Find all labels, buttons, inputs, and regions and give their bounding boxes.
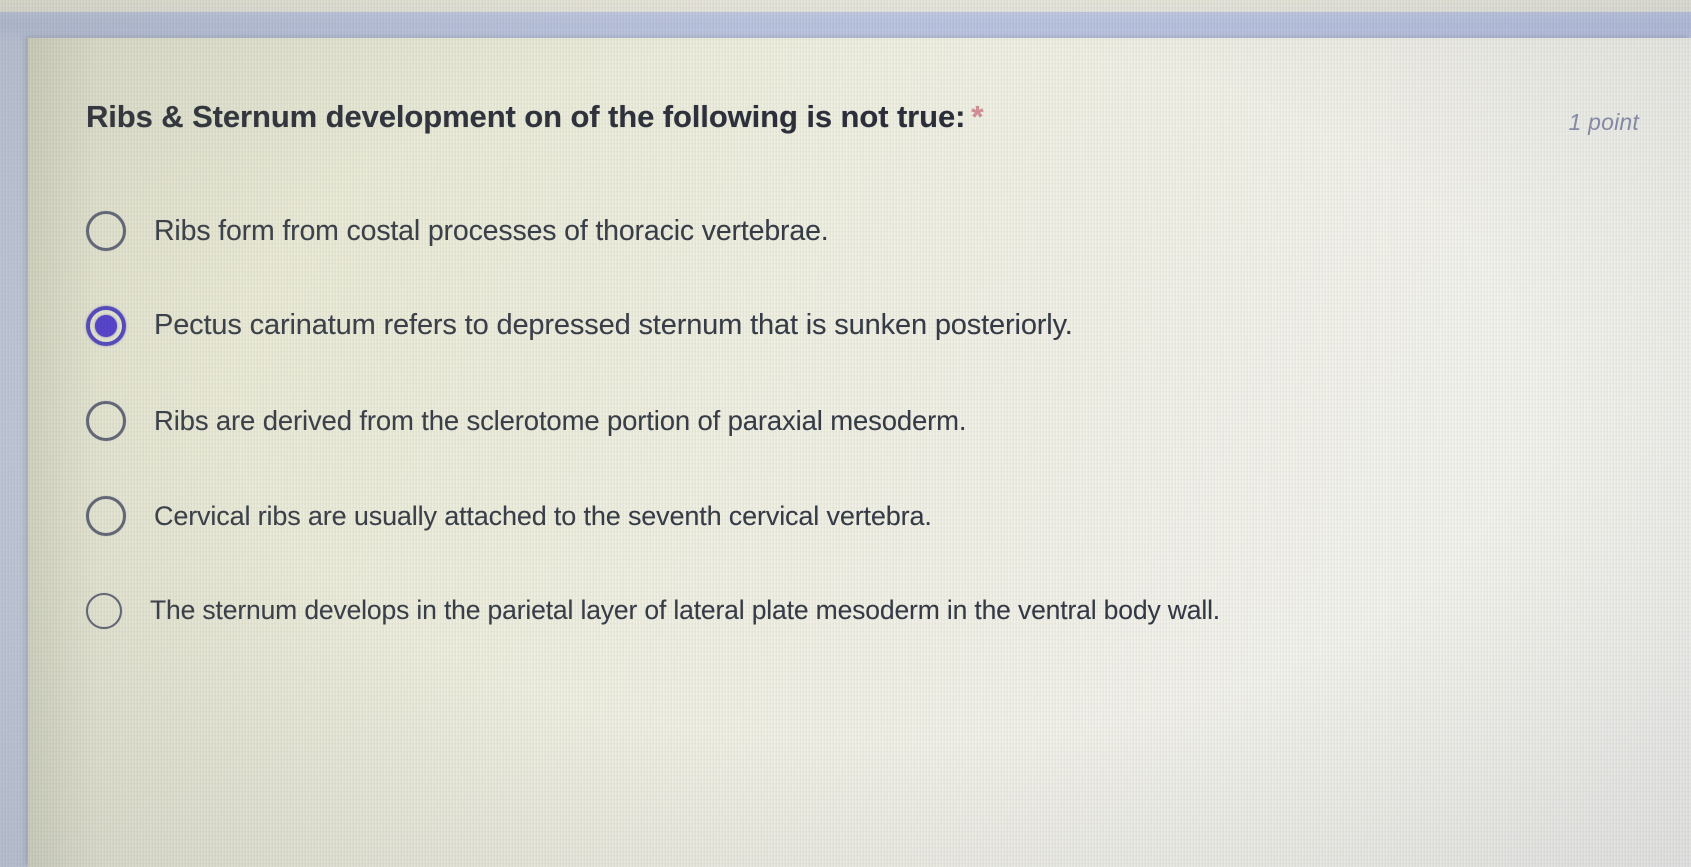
option-row-5[interactable]: The sternum develops in the parietal lay…: [86, 580, 1647, 642]
question-title: Ribs & Sternum development on of the fol…: [86, 100, 983, 134]
option-row-1[interactable]: Ribs form from costal processes of thora…: [86, 200, 1647, 262]
option-row-3[interactable]: Ribs are derived from the sclerotome por…: [86, 390, 1647, 452]
option-label-2: Pectus carinatum refers to depressed ste…: [154, 305, 1073, 346]
option-row-4[interactable]: Cervical ribs are usually attached to th…: [86, 485, 1647, 547]
points-label: 1 point: [1569, 100, 1647, 136]
radio-button-icon-3[interactable]: [86, 401, 126, 441]
option-label-5: The sternum develops in the parietal lay…: [150, 592, 1220, 630]
options-list: Ribs form from costal processes of thora…: [86, 200, 1647, 642]
question-card-content: Ribs & Sternum development on of the fol…: [86, 100, 1647, 867]
question-card: Ribs & Sternum development on of the fol…: [28, 38, 1691, 867]
option-label-3: Ribs are derived from the sclerotome por…: [154, 401, 966, 440]
radio-button-icon-4[interactable]: [86, 496, 126, 536]
radio-button-icon-1[interactable]: [86, 211, 126, 251]
radio-button-icon-2-selected[interactable]: [86, 306, 126, 346]
question-title-text: Ribs & Sternum development on of the fol…: [86, 99, 965, 134]
screen-photograph: Ribs & Sternum development on of the fol…: [0, 0, 1691, 867]
option-row-2[interactable]: Pectus carinatum refers to depressed ste…: [86, 295, 1647, 357]
option-label-1: Ribs form from costal processes of thora…: [154, 211, 829, 251]
required-asterisk: *: [965, 99, 983, 134]
radio-button-icon-5[interactable]: [86, 593, 122, 629]
question-header-row: Ribs & Sternum development on of the fol…: [86, 100, 1647, 156]
option-label-4: Cervical ribs are usually attached to th…: [154, 497, 932, 535]
